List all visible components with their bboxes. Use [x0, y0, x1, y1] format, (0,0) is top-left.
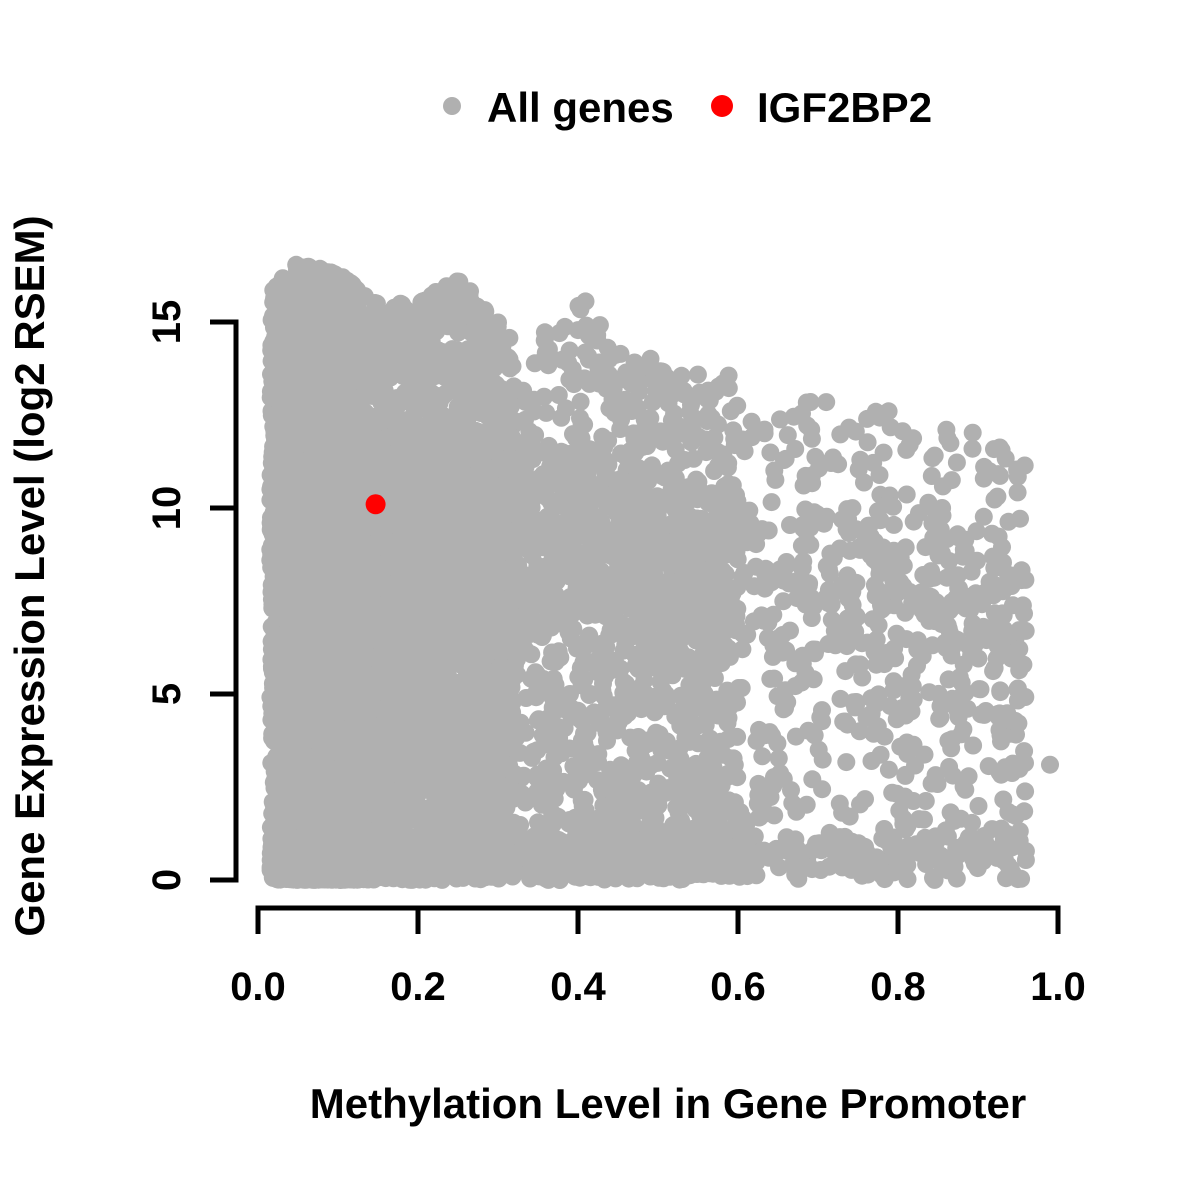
data-point	[948, 454, 966, 472]
data-point	[956, 781, 974, 799]
data-point	[975, 508, 993, 526]
scatter-plot-figure: 0 5 10 15 0.0 0.2 0.4 0.6 0.8 1.0 Methyl…	[0, 0, 1200, 1200]
data-point	[964, 440, 982, 458]
data-point	[837, 753, 855, 771]
data-point	[924, 869, 942, 887]
data-point	[898, 486, 916, 504]
plot-canvas: 0 5 10 15 0.0 0.2 0.4 0.6 0.8 1.0 Methyl…	[0, 0, 1200, 1200]
data-point	[964, 424, 982, 442]
data-point	[1016, 782, 1034, 800]
data-point	[859, 433, 877, 451]
